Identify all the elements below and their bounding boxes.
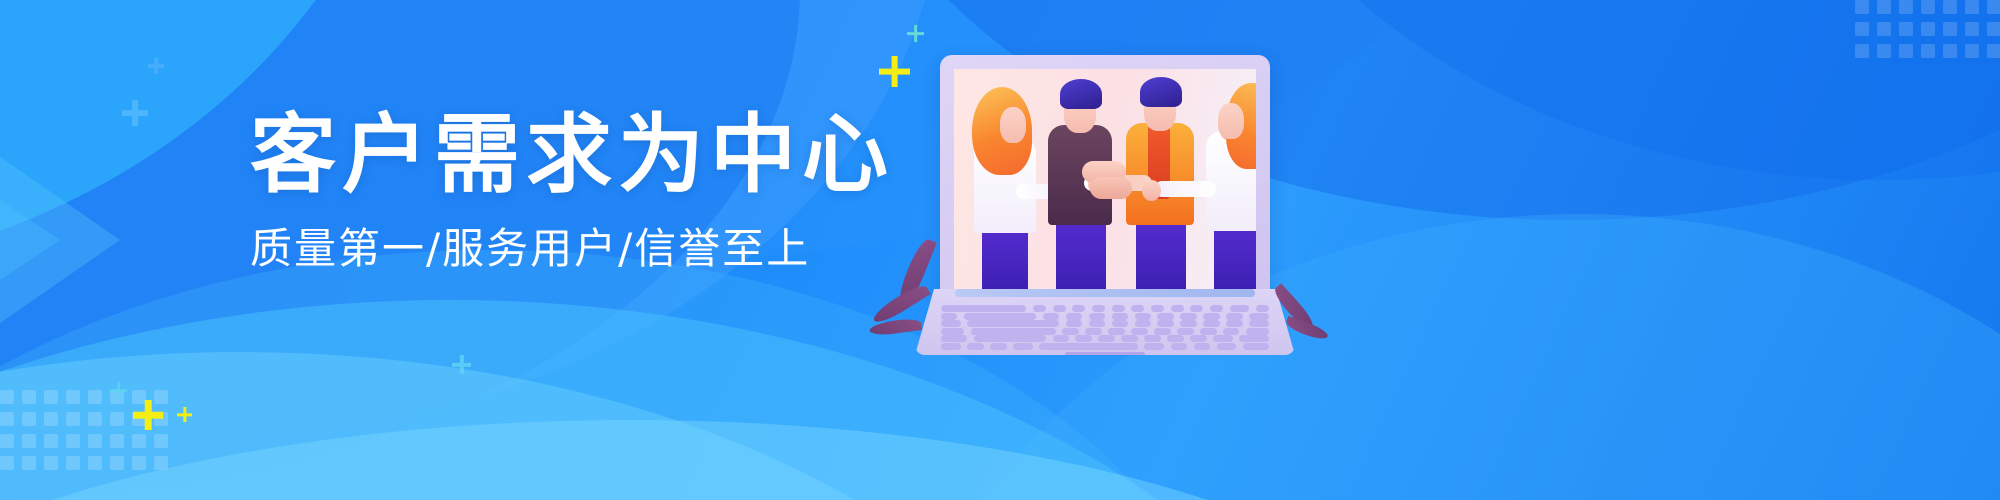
keyboard-key — [1190, 335, 1206, 342]
grid-dot — [132, 456, 146, 470]
grid-dot — [1943, 0, 1957, 14]
keyboard-key — [1177, 328, 1193, 335]
grid-dot — [0, 412, 14, 426]
keyboard-key — [1066, 320, 1082, 327]
keyboard-key — [1203, 313, 1219, 320]
grid-dot — [1965, 0, 1979, 14]
keyboard-key — [1239, 335, 1269, 342]
keyboard-key — [1085, 328, 1101, 335]
banner-subheadline: 质量第一/服务用户/信誉至上 — [250, 228, 890, 270]
grid-dot — [66, 434, 80, 448]
grid-dot — [1921, 44, 1935, 58]
keyboard-key — [1226, 313, 1242, 320]
keyboard-key — [1230, 305, 1250, 312]
keyboard-key — [1210, 305, 1223, 312]
keyboard-key — [967, 320, 1059, 327]
laptop-screen — [954, 69, 1256, 295]
plus-small-top-left-icon — [148, 58, 164, 74]
grid-dot — [22, 456, 36, 470]
keyboard-key — [1089, 320, 1105, 327]
keyboard-key — [1112, 313, 1128, 320]
keyboard-key — [1151, 305, 1164, 312]
keyboard-key — [971, 328, 1056, 335]
grid-dot — [1899, 0, 1913, 14]
grid-dot — [1877, 44, 1891, 58]
keyboard-key — [1249, 320, 1269, 327]
grid-dot — [1987, 0, 2000, 14]
grid-dot — [0, 456, 14, 470]
keyboard-key — [1246, 328, 1269, 335]
keyboard-key — [1075, 335, 1091, 342]
keyboard-key — [941, 343, 961, 350]
plus-cyan-bottom-mid-icon — [452, 355, 471, 374]
person-woman-left — [960, 69, 1046, 295]
grid-dot — [1899, 44, 1913, 58]
grid-dot — [66, 390, 80, 404]
person4-face — [1218, 103, 1244, 139]
plus-yellow-large-icon — [133, 400, 163, 430]
grid-dot — [1855, 0, 1869, 14]
keyboard-key — [1039, 343, 1137, 350]
grid-dot — [44, 412, 58, 426]
grid-dot — [154, 456, 168, 470]
keyboard-key — [1200, 328, 1216, 335]
plus-yellow-topright-icon — [879, 56, 910, 87]
grid-dot — [1987, 22, 2000, 36]
grid-dot — [0, 390, 14, 404]
grid-dot — [1921, 0, 1935, 14]
stacked-hands-bottom — [1090, 177, 1132, 199]
keyboard-key — [1135, 313, 1151, 320]
keyboard-key — [1013, 343, 1033, 350]
grid-dot — [1943, 22, 1957, 36]
keyboard-key — [1256, 305, 1269, 312]
grid-dot — [1877, 0, 1891, 14]
keyboard-key — [1217, 343, 1237, 350]
keyboard-key — [1203, 320, 1219, 327]
illustration-alt-text: 四人团队击掌合作，笔记本电脑屏幕插画 — [0, 0, 1, 1]
grid-dot — [22, 390, 36, 404]
grid-dot — [44, 456, 58, 470]
keyboard-key — [1213, 335, 1233, 342]
grid-dot — [1855, 44, 1869, 58]
keyboard-key — [1053, 305, 1066, 312]
grid-dot — [154, 434, 168, 448]
laptop-keyboard — [941, 305, 1269, 347]
grid-dot — [132, 434, 146, 448]
keyboard-key — [941, 335, 967, 342]
keyboard-key — [967, 343, 983, 350]
laptop-base — [915, 289, 1295, 355]
keyboard-key — [1121, 335, 1137, 342]
plus-yellow-small-icon — [177, 407, 192, 422]
keyboard-key — [1194, 343, 1210, 350]
keyboard-key — [1180, 313, 1196, 320]
keyboard-key — [1157, 320, 1173, 327]
keyboard-key — [1072, 305, 1085, 312]
grid-dot — [1921, 22, 1935, 36]
grid-dot — [110, 434, 124, 448]
keyboard-key — [1033, 305, 1046, 312]
keyboard-key — [1144, 343, 1164, 350]
bg-chevron-one — [0, 150, 120, 330]
keyboard-key — [1249, 313, 1269, 320]
keyboard-key — [1171, 343, 1187, 350]
laptop-illustration — [915, 55, 1295, 355]
person2-hair — [1060, 79, 1102, 109]
person4-arm — [1154, 181, 1216, 197]
grid-dot — [88, 434, 102, 448]
grid-dot — [1965, 44, 1979, 58]
keyboard-key — [941, 313, 957, 320]
keyboard-key — [1131, 328, 1147, 335]
grid-dot — [66, 412, 80, 426]
keyboard-key — [1157, 313, 1173, 320]
grid-dot — [1965, 22, 1979, 36]
grid-dot — [88, 456, 102, 470]
grid-dot — [1987, 44, 2000, 58]
banner-headline: 客户需求为中心 — [250, 112, 890, 198]
keyboard-key — [1053, 335, 1069, 342]
grid-dot — [1899, 22, 1913, 36]
grid-dot — [88, 412, 102, 426]
keyboard-key — [1112, 320, 1128, 327]
grid-dot — [110, 456, 124, 470]
promo-banner: 客户需求为中心 质量第一/服务用户/信誉至上 — [0, 0, 2000, 500]
keyboard-key — [1243, 343, 1269, 350]
plus-cyan-topright-icon — [907, 25, 924, 42]
grid-dot — [44, 390, 58, 404]
keyboard-key — [1144, 335, 1160, 342]
grid-dot — [88, 390, 102, 404]
keyboard-key — [1062, 328, 1078, 335]
grid-dot — [22, 434, 36, 448]
keyboard-key — [1154, 328, 1170, 335]
grid-dot — [1943, 44, 1957, 58]
keyboard-key — [1223, 328, 1239, 335]
keyboard-key — [1190, 305, 1203, 312]
keyboard-key — [1112, 305, 1125, 312]
person1-face — [1000, 107, 1026, 143]
keyboard-key — [990, 343, 1006, 350]
keyboard-key — [1135, 320, 1151, 327]
grid-dot — [44, 434, 58, 448]
keyboard-key — [941, 328, 964, 335]
keyboard-key — [941, 305, 1026, 312]
keyboard-key — [1167, 335, 1183, 342]
person-woman-right — [1196, 69, 1256, 295]
bg-chevron-two — [0, 160, 60, 320]
keyboard-key — [1092, 305, 1105, 312]
keyboard-key — [974, 335, 1046, 342]
plus-medium-left-icon — [122, 100, 148, 126]
laptop-trackpad — [1065, 352, 1145, 357]
keyboard-key — [941, 320, 961, 327]
bg-wave-bottom-light — [0, 420, 1480, 500]
keyboard-key — [1066, 313, 1082, 320]
keyboard-key — [964, 313, 1036, 320]
dot-grid-top-right — [1855, 0, 2000, 66]
keyboard-key — [1226, 320, 1242, 327]
grid-dot — [22, 412, 36, 426]
person3-hair — [1140, 77, 1182, 107]
grid-dot — [1877, 22, 1891, 36]
laptop-lid — [940, 55, 1270, 305]
grid-dot — [66, 456, 80, 470]
keyboard-key — [1171, 305, 1184, 312]
banner-text-block: 客户需求为中心 质量第一/服务用户/信誉至上 — [250, 112, 890, 270]
keyboard-key — [1043, 313, 1059, 320]
keyboard-key — [1131, 305, 1144, 312]
plus-cyan-bottom-left-icon — [110, 382, 127, 399]
grid-dot — [1855, 22, 1869, 36]
keyboard-key — [1089, 313, 1105, 320]
grid-dot — [0, 434, 14, 448]
keyboard-key — [1108, 328, 1124, 335]
person4-hand — [1142, 180, 1161, 201]
keyboard-key — [1180, 320, 1196, 327]
grid-dot — [110, 412, 124, 426]
laptop-hinge — [955, 289, 1255, 297]
keyboard-key — [1098, 335, 1114, 342]
